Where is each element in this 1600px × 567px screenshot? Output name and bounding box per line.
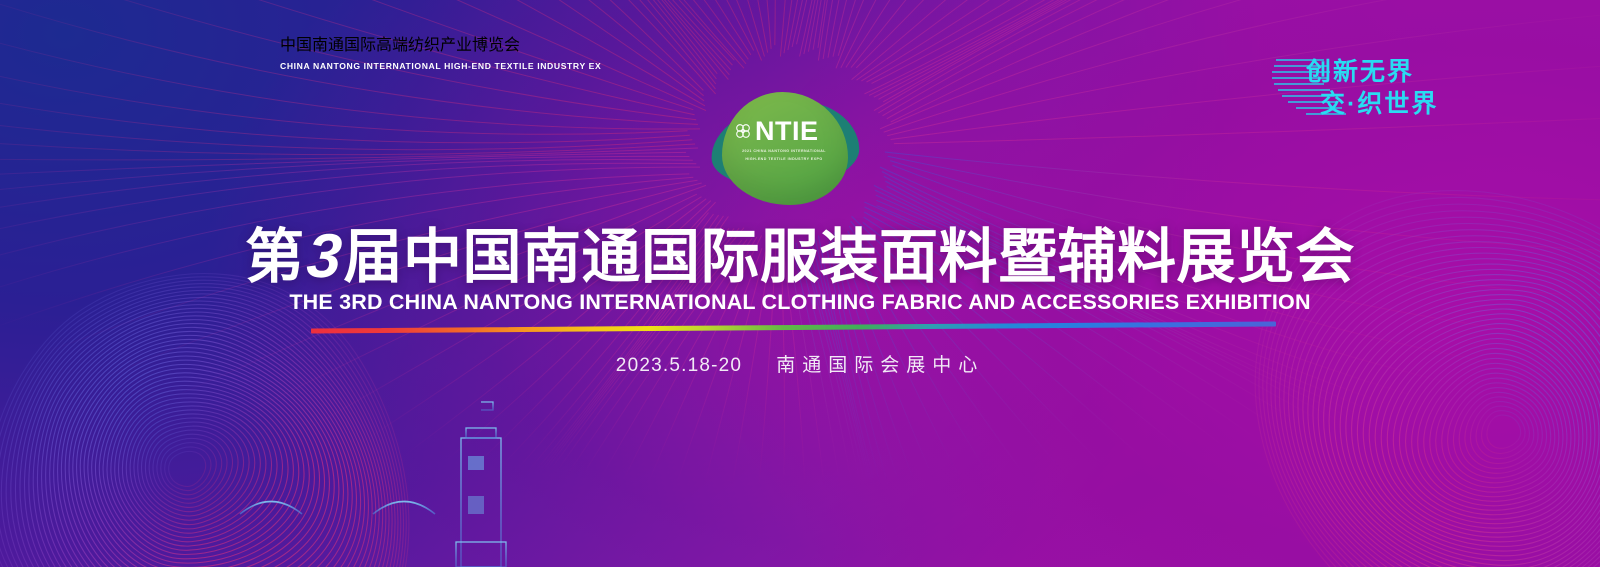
event-venue: 南通国际会展中心 — [776, 355, 984, 376]
organizer-title-en: CHINA NANTONG INTERNATIONAL HIGH-END TEX… — [280, 61, 601, 71]
event-date: 2023.5.18-20 — [616, 355, 742, 376]
exhibition-banner: 中国南通国际高端纺织产业博览会 CHINA NANTONG INTERNATIO… — [0, 0, 1600, 567]
knot-icon — [733, 121, 753, 141]
page-subtitle: THE 3RD CHINA NANTONG INTERNATIONAL CLOT… — [0, 290, 1600, 315]
organizer-title-cn: 中国南通国际高端纺织产业博览会 — [280, 31, 601, 55]
organizer-title: 中国南通国际高端纺织产业博览会 CHINA NANTONG INTERNATIO… — [280, 31, 601, 71]
slogan-mark: 创新无界 交·织世界 — [1272, 52, 1472, 122]
ntie-wordmark: NTIE — [755, 118, 819, 145]
headline-edition-number: 3 — [302, 224, 346, 290]
headline-prefix: 第 — [245, 224, 305, 290]
ntie-logo: NTIE 2021 CHINA NANTONG INTERNATIONAL HI… — [703, 88, 865, 210]
ntie-caption: 2021 CHINA NANTONG INTERNATIONAL HIGH-EN… — [728, 148, 840, 163]
nantong-bridge-silhouette — [210, 392, 530, 567]
headline-suffix: 届中国南通国际服装面料暨辅料展览会 — [343, 224, 1355, 290]
page-title: 第3届中国南通国际服装面料暨辅料展览会 — [0, 224, 1600, 290]
slogan-line-2: 交·织世界 — [1320, 89, 1438, 118]
event-info: 2023.5.18-20南通国际会展中心 — [0, 350, 1600, 377]
slogan-line-1: 创新无界 — [1305, 57, 1414, 86]
rainbow-divider — [311, 318, 1276, 335]
